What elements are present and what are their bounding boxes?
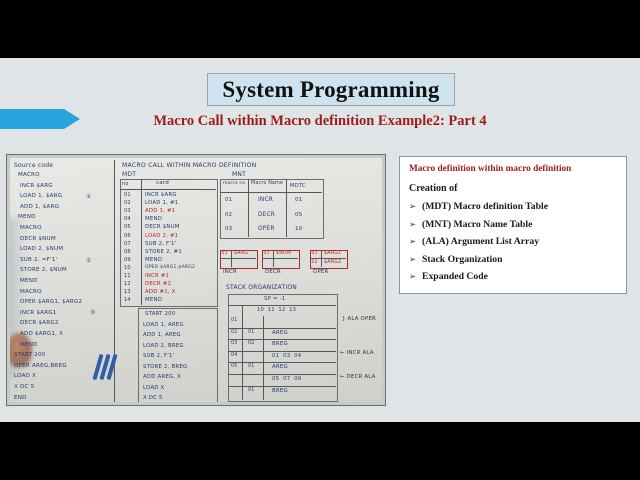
source-code-line: INCR $ARG1 — [20, 310, 57, 316]
mdt-row-index: 10 — [124, 265, 131, 271]
mnt-row-index: 02 — [225, 212, 232, 218]
mdt-row-card: DECR $NUM — [145, 224, 180, 230]
mnt-row-index: 03 — [225, 226, 232, 232]
stack-col-divider-2 — [263, 316, 264, 400]
source-code-line: ADD 1, $ARG — [20, 204, 59, 210]
mdt-col-header-card: card — [156, 180, 169, 186]
expanded-code-line: SUB 2, F'1' — [143, 353, 174, 359]
expanded-code-line: LOAD 1, AREG — [143, 322, 184, 328]
stack-annotation-ala-oper: } ALA OPER — [342, 316, 376, 322]
stack-row-rule — [228, 362, 336, 363]
stack-row-rule — [228, 374, 336, 375]
expanded-code-line: X DC 5 — [143, 395, 163, 401]
expanded-code-line: START 200 — [145, 311, 175, 317]
mdt-row-index: 02 — [124, 200, 131, 206]
list-item: ➢ (MNT) Macro Name Table — [409, 219, 617, 230]
source-code-line: ADD $ARG1, X — [20, 331, 63, 337]
list-item: ➢ Expanded Code — [409, 271, 617, 282]
stack-annotation-incr-ala: ← INCR ALA — [340, 350, 374, 356]
mdt-row-card: MEND — [145, 257, 162, 263]
mnt-row-name: INCR — [258, 197, 273, 203]
mdt-row-index: 11 — [124, 273, 131, 279]
stack-row-rule — [228, 351, 336, 352]
stack-row-a: 01 — [248, 364, 255, 369]
mdt-row-card: LOAD 1, #1 — [145, 200, 178, 206]
stack-row-a: 01 — [248, 388, 255, 393]
expanded-code-line: LOAD 2, BREG — [143, 343, 184, 349]
topic-panel: Macro definition within macro definition… — [399, 156, 627, 294]
source-code-line: OPER $ARG1, $ARG2 — [20, 299, 82, 305]
list-item: ➢ Stack Organization — [409, 254, 617, 265]
mnt-col-divider-1 — [248, 179, 249, 237]
source-code-line: MACRO — [18, 172, 40, 178]
mdt-row-index: 01 — [124, 192, 131, 198]
expanded-code-line: STORE 2, BREG — [143, 364, 187, 370]
list-item-label: (ALA) Argument List Array — [422, 236, 539, 247]
expanded-code-line: ADD AREG, X — [143, 374, 181, 380]
stack-row-rule — [228, 339, 336, 340]
mdt-row-card: ADD 1, #1 — [145, 208, 175, 214]
list-item-label: Expanded Code — [422, 271, 488, 282]
topic-panel-subheading: Creation of — [409, 183, 617, 194]
mdt-row-card: LOAD 2, #1 — [145, 233, 178, 239]
letterbox-bottom — [0, 422, 640, 480]
source-code-line: INCR $ARG — [20, 183, 53, 189]
mdt-row-card: INCR $ARG — [145, 192, 177, 198]
mdt-row-index: 06 — [124, 233, 131, 239]
source-code-line: SUB 2, =F'1' — [20, 257, 57, 263]
mdt-row-index: 04 — [124, 216, 131, 222]
mdt-row-index: 08 — [124, 249, 131, 255]
stack-annotation-decr-ala: ← DECR ALA — [340, 374, 376, 380]
ala-index: 02 — [312, 260, 318, 265]
mdt-row-index: 05 — [124, 224, 131, 230]
source-code-line: MACRO — [20, 225, 42, 231]
mdt-row-card: STORE 2, #1 — [145, 249, 182, 255]
mnt-title: MNT — [232, 171, 246, 178]
mnt-col-header-no: macro no — [223, 181, 245, 186]
list-item-label: (MDT) Macro definition Table — [422, 201, 548, 212]
mdt-row-index: 07 — [124, 241, 131, 247]
letterbox-top — [0, 0, 640, 58]
bullet-arrow-icon: ➢ — [409, 255, 422, 265]
page-title-box: System Programming — [207, 73, 455, 106]
ala-index: 01 — [312, 251, 318, 256]
stack-row-a: 02 — [248, 341, 255, 346]
stack-row-b: AREG — [272, 330, 288, 336]
mnt-col-header-name: Macro Name — [251, 181, 283, 186]
source-marker-2: ② — [86, 258, 91, 264]
mnt-row-name: OPER — [258, 226, 275, 232]
mdt-col-header-no: no — [122, 181, 129, 187]
source-code-line: MEND — [18, 214, 36, 220]
stack-row-b: AREG — [272, 364, 288, 370]
mdt-title: MDT — [122, 171, 136, 178]
stack-title: STACK ORGANIZATION — [226, 284, 297, 291]
mnt-col-divider-2 — [286, 179, 287, 237]
stack-row-rule — [228, 386, 336, 387]
bullet-arrow-icon: ➢ — [409, 202, 422, 212]
ala-arg: $ARG1 — [324, 251, 341, 256]
mdt-row-card: MEND — [145, 216, 162, 222]
video-frame: System Programming Macro Call within Mac… — [0, 0, 640, 480]
page-subtitle: Macro Call within Macro definition Examp… — [0, 113, 640, 130]
stack-row-index: 04 — [231, 353, 238, 358]
bullet-arrow-icon: ➢ — [409, 272, 422, 282]
stack-row-index: 05 — [231, 364, 238, 369]
stack-row-index: 02 — [231, 330, 238, 335]
source-code-heading: Source code — [14, 162, 53, 169]
ala-arg: $ARG — [234, 251, 248, 256]
mdt-row-card: INCR #1 — [145, 273, 169, 279]
mnt-col-header-mdtc: MDTC — [290, 183, 306, 189]
stack-row-b: BREG — [272, 341, 288, 347]
ala-index: 01 — [222, 251, 228, 256]
mnt-row-name: DECR — [258, 212, 275, 218]
stack-row-a: 01 — [248, 330, 255, 335]
ala-arg: $NUM — [276, 251, 291, 256]
list-item-label: (MNT) Macro Name Table — [422, 219, 532, 230]
stack-row-b: BREG — [272, 388, 288, 394]
mdt-row-card: MEND — [145, 297, 162, 303]
source-code-line: MACRO — [20, 289, 42, 295]
list-item: ➢ (MDT) Macro definition Table — [409, 201, 617, 212]
stack-sp-label: SP = -1 — [264, 296, 285, 302]
stack-row-rule — [228, 328, 336, 329]
mdt-row-card: DECR #2 — [145, 281, 171, 287]
ala-arg: $ARG2 — [324, 260, 341, 265]
mdt-row-index: 14 — [124, 297, 131, 303]
source-marker-1: ① — [86, 194, 91, 200]
mdt-row-index: 09 — [124, 257, 131, 263]
ala-box-rule — [262, 258, 298, 259]
ala-label: DECR — [265, 269, 281, 275]
mnt-row-mdtc: 01 — [295, 197, 303, 203]
source-code-line: LOAD X — [14, 373, 36, 379]
bullet-arrow-icon: ➢ — [409, 220, 422, 230]
ala-index: 01 — [264, 251, 270, 256]
mdt-row-index: 03 — [124, 208, 131, 214]
source-code-line: DECR $NUM — [20, 236, 56, 242]
whiteboard-photo: MACRO CALL WITHIN MACRO DEFINITIONSource… — [6, 154, 386, 406]
ala-box-rule — [220, 258, 256, 259]
expanded-code-line: ADD 1, AREG — [143, 332, 181, 338]
stack-row-b: 05 07 09 — [272, 376, 301, 382]
source-code-line: LOAD 2, $NUM — [20, 246, 63, 252]
mdt-row-card: SUB 2, F'1' — [145, 241, 176, 247]
list-item-label: Stack Organization — [422, 254, 502, 265]
bullet-arrow-icon: ➢ — [409, 237, 422, 247]
mdt-row-card: OPER $ARG1,$ARG2 — [145, 265, 195, 270]
source-code-line: OPER AREG,BREG — [14, 363, 67, 369]
mdt-row-index: 13 — [124, 289, 131, 295]
source-marker-3: ③ — [90, 310, 95, 316]
source-code-line: MEND — [20, 278, 38, 284]
expanded-code-line: LOAD X — [143, 385, 164, 391]
page-title: System Programming — [222, 77, 439, 103]
whiteboard-surface: MACRO CALL WITHIN MACRO DEFINITIONSource… — [10, 158, 382, 402]
source-code-line: DECR $ARG2 — [20, 320, 59, 326]
source-code-line: END — [14, 395, 27, 401]
mdt-row-card: ADD #1, X — [145, 289, 176, 295]
topic-panel-heading: Macro definition within macro definition — [409, 164, 617, 174]
slide-canvas: System Programming Macro Call within Mac… — [0, 58, 640, 422]
source-code-line: MEND — [20, 342, 38, 348]
source-code-line: LOAD 1, $ARG — [20, 193, 62, 199]
stack-row-index: 01 — [231, 318, 238, 323]
list-item: ➢ (ALA) Argument List Array — [409, 236, 617, 247]
stack-row-b: 01 03 04 — [272, 353, 301, 359]
mnt-row-index: 01 — [225, 197, 232, 203]
ala-label: OPER — [313, 269, 328, 275]
ala-label: INCR — [223, 269, 237, 275]
stack-row-index: 03 — [231, 341, 238, 346]
source-code-line: STORE 2, $NUM — [20, 267, 67, 273]
mnt-row-mdtc: 05 — [295, 212, 303, 218]
mdt-header-rule — [120, 189, 216, 190]
source-code-line: START 200 — [14, 352, 46, 358]
mnt-row-mdtc: 10 — [295, 226, 303, 232]
mnt-header-rule — [220, 192, 322, 193]
source-code-line: X DC 5 — [14, 384, 34, 390]
stack-header-rule — [228, 305, 336, 306]
mdt-col-divider — [141, 179, 142, 305]
board-title: MACRO CALL WITHIN MACRO DEFINITION — [122, 162, 256, 169]
mdt-row-index: 12 — [124, 281, 131, 287]
stack-top-row: 10 11 12 13 — [257, 307, 296, 313]
